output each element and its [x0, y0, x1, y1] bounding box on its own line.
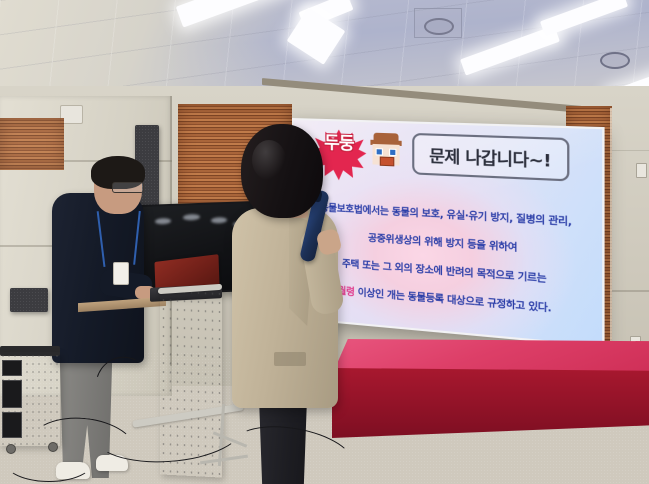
ceiling-vent-panel [414, 8, 462, 38]
presentation-room-photo: 두둥 문제 나갑니다~! 동물보호법에서는 동물의 보호, 유실·유기 방지, … [0, 0, 649, 484]
window-blinds-left [0, 118, 64, 170]
presenter-pocket [274, 352, 306, 366]
slide-title-box: 문제 나갑니다~! [412, 133, 569, 182]
slide-title: 문제 나갑니다~! [429, 142, 551, 172]
projection-screen: 두둥 문제 나갑니다~! 동물보호법에서는 동물의 보호, 유실·유기 방지, … [292, 118, 605, 348]
blinds-cord-right [610, 108, 612, 348]
glasses-icon [112, 182, 144, 193]
mascot-mouth [380, 157, 395, 167]
mascot-eye-left [376, 148, 383, 155]
floor-cable-4 [4, 440, 94, 482]
tv-reflection-1 [155, 218, 171, 225]
tv-reflection-2 [183, 214, 200, 221]
wall-speaker-icon [10, 288, 48, 312]
projection-screen-surface: 두둥 문제 나갑니다~! 동물보호법에서는 동물의 보호, 유실·유기 방지, … [294, 120, 602, 345]
rack-slot-2 [2, 380, 22, 408]
wall-outlet-icon-2 [636, 163, 647, 178]
mascot-eye-right [389, 149, 396, 157]
rack-slot-3 [2, 412, 22, 438]
id-badge [113, 262, 129, 285]
tv-reflection-3 [211, 217, 227, 224]
mascot-character-icon [370, 133, 401, 167]
ceiling-vent-2 [600, 52, 630, 69]
presenter-hair-highlight [252, 140, 286, 180]
rack-slot-1 [2, 360, 22, 376]
